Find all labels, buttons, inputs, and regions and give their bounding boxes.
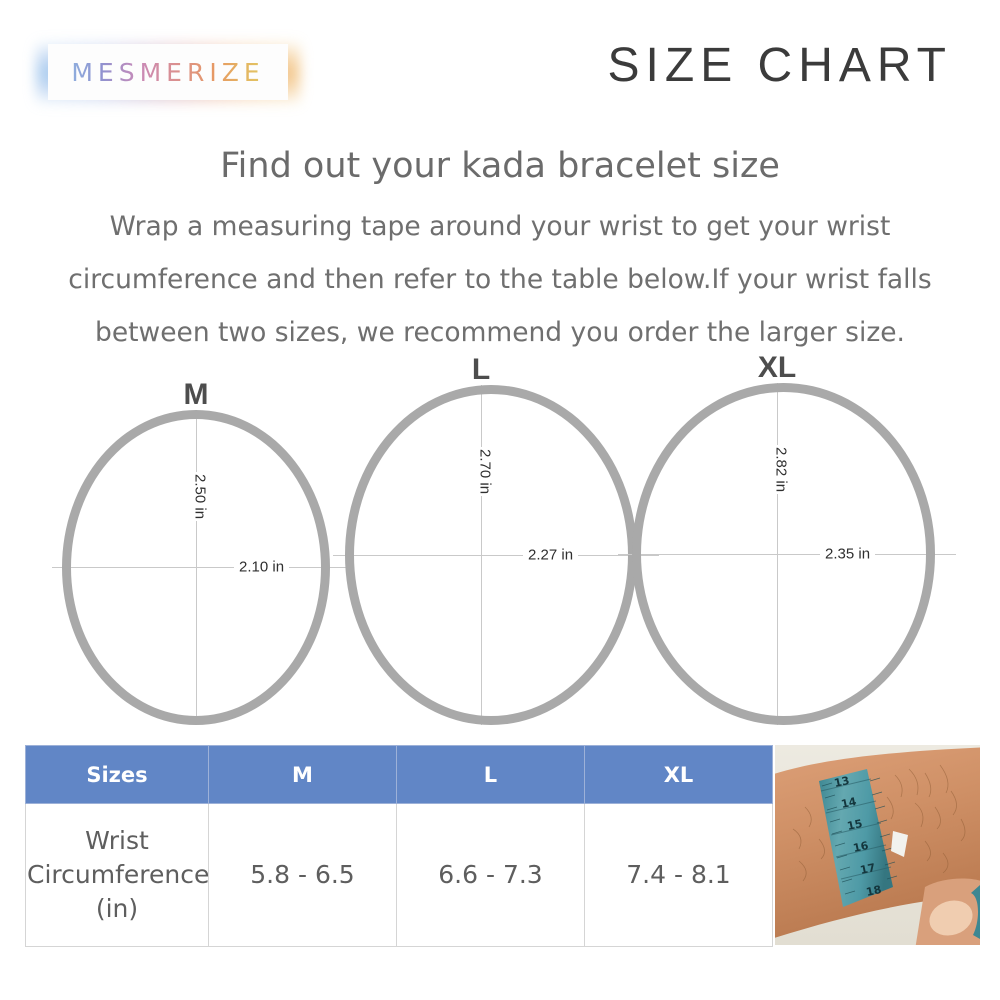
table-header-m: M [209,746,397,804]
wrist-photo-illustration: 13 14 15 16 17 18 [775,745,980,945]
wrist-measurement-photo: 13 14 15 16 17 18 [775,745,980,945]
oval-height-label-m: 2.50 in [192,472,209,521]
cell-wrist-l: 6.6 - 7.3 [397,804,585,947]
oval-width-label-m: 2.10 in [234,559,289,576]
oval-ring-m [62,410,330,725]
cell-wrist-xl: 7.4 - 8.1 [585,804,773,947]
table-header-xl: XL [585,746,773,804]
oval-group-l: L 2.70 in 2.27 in [345,385,637,725]
oval-size-label-m: M [184,378,209,412]
table-body: Wrist Circumference (in) 5.8 - 6.5 6.6 -… [26,804,773,947]
oval-width-label-xl: 2.35 in [820,546,875,563]
size-table: Sizes M L XL Wrist Circumference (in) 5.… [25,745,773,947]
oval-size-label-xl: XL [758,351,796,385]
table-header-l: L [397,746,585,804]
oval-diagram: M 2.50 in 2.10 in L 2.70 in 2.27 in XL 2… [0,340,1000,740]
table-header-sizes: Sizes [26,746,209,804]
oval-size-label-l: L [472,353,490,387]
row-label-wrist-circumference: Wrist Circumference (in) [26,804,209,947]
table-header-row: Sizes M L XL [26,746,773,804]
brand-logo: MESMERIZE [48,44,288,100]
oval-height-label-xl: 2.82 in [773,445,790,494]
cell-wrist-m: 5.8 - 6.5 [209,804,397,947]
oval-ring-xl [632,383,935,725]
oval-ring-l [345,385,637,725]
logo-wordmark: MESMERIZE [48,44,288,100]
subtitle: Find out your kada bracelet size [0,146,1000,186]
intro-paragraph: Wrap a measuring tape around your wrist … [50,200,950,359]
table-header: Sizes M L XL [26,746,773,804]
page-title: SIZE CHART [608,38,952,93]
oval-width-label-l: 2.27 in [523,547,578,564]
oval-height-label-l: 2.70 in [477,447,494,496]
oval-group-xl: XL 2.82 in 2.35 in [632,383,935,725]
oval-group-m: M 2.50 in 2.10 in [62,410,330,725]
table-row: Wrist Circumference (in) 5.8 - 6.5 6.6 -… [26,804,773,947]
